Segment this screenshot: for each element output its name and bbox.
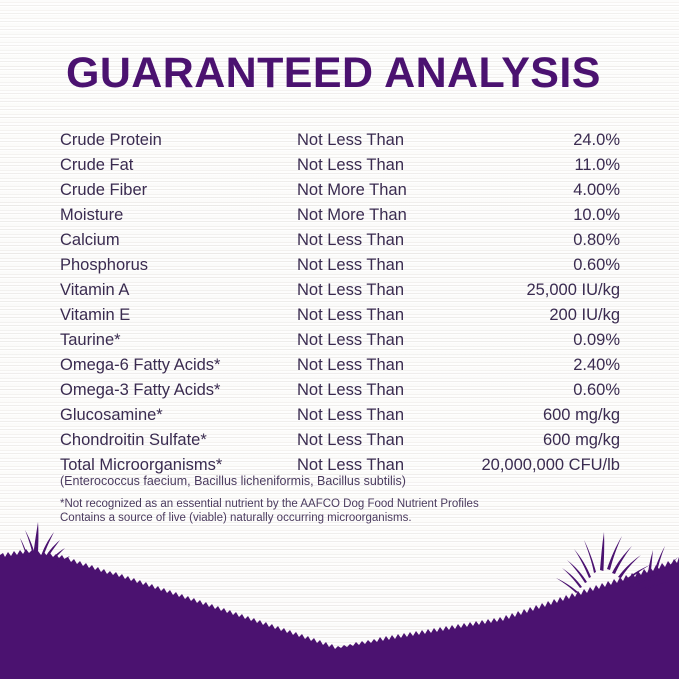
microorganism-strains-note: (Enterococcus faecium, Bacillus lichenif… (60, 474, 406, 488)
nutrient-label: Crude Fiber (60, 178, 147, 203)
amount-value: 4.00% (573, 178, 620, 203)
nutrient-label: Crude Fat (60, 153, 133, 178)
qualifier-label: Not Less Than (297, 428, 404, 453)
table-row: Chondroitin Sulfate* Not Less Than 600 m… (60, 428, 620, 453)
table-row: Glucosamine* Not Less Than 600 mg/kg (60, 403, 620, 428)
amount-value: 600 mg/kg (543, 428, 620, 453)
amount-value: 11.0% (574, 153, 620, 178)
qualifier-label: Not Less Than (297, 128, 404, 153)
table-row: Phosphorus Not Less Than 0.60% (60, 253, 620, 278)
amount-value: 600 mg/kg (543, 403, 620, 428)
amount-value: 200 IU/kg (549, 303, 620, 328)
table-row: Taurine* Not Less Than 0.09% (60, 328, 620, 353)
table-row: Omega-6 Fatty Acids* Not Less Than 2.40% (60, 353, 620, 378)
table-row: Omega-3 Fatty Acids* Not Less Than 0.60% (60, 378, 620, 403)
amount-value: 0.80% (573, 228, 620, 253)
qualifier-label: Not Less Than (297, 403, 404, 428)
nutrient-label: Phosphorus (60, 253, 148, 278)
amount-value: 2.40% (573, 353, 620, 378)
table-row: Crude Fiber Not More Than 4.00% (60, 178, 620, 203)
amount-value: 10.0% (573, 203, 620, 228)
amount-value: 20,000,000 CFU/lb (481, 453, 620, 478)
qualifier-label: Not Less Than (297, 378, 404, 403)
table-row: Vitamin A Not Less Than 25,000 IU/kg (60, 278, 620, 303)
qualifier-label: Not More Than (297, 203, 407, 228)
qualifier-label: Not Less Than (297, 328, 404, 353)
nutrient-label: Taurine* (60, 328, 121, 353)
amount-value: 24.0% (573, 128, 620, 153)
table-row: Moisture Not More Than 10.0% (60, 203, 620, 228)
qualifier-label: Not More Than (297, 178, 407, 203)
page-title: GUARANTEED ANALYSIS (66, 48, 601, 98)
qualifier-label: Not Less Than (297, 228, 404, 253)
nutrient-label: Moisture (60, 203, 123, 228)
table-row: Calcium Not Less Than 0.80% (60, 228, 620, 253)
nutrient-label: Vitamin E (60, 303, 130, 328)
nutrient-label: Omega-6 Fatty Acids* (60, 353, 220, 378)
qualifier-label: Not Less Than (297, 278, 404, 303)
nutrient-label: Calcium (60, 228, 120, 253)
grass-silhouette-icon (0, 509, 679, 679)
qualifier-label: Not Less Than (297, 303, 404, 328)
guaranteed-analysis-table: Crude Protein Not Less Than 24.0% Crude … (60, 128, 620, 478)
qualifier-label: Not Less Than (297, 353, 404, 378)
qualifier-label: Not Less Than (297, 253, 404, 278)
guaranteed-analysis-panel: GUARANTEED ANALYSIS Crude Protein Not Le… (0, 0, 679, 679)
amount-value: 25,000 IU/kg (526, 278, 620, 303)
nutrient-label: Crude Protein (60, 128, 162, 153)
nutrient-label: Glucosamine* (60, 403, 163, 428)
amount-value: 0.09% (573, 328, 620, 353)
amount-value: 0.60% (573, 378, 620, 403)
nutrient-label: Omega-3 Fatty Acids* (60, 378, 220, 403)
table-row: Vitamin E Not Less Than 200 IU/kg (60, 303, 620, 328)
nutrient-label: Chondroitin Sulfate* (60, 428, 207, 453)
table-row: Crude Protein Not Less Than 24.0% (60, 128, 620, 153)
nutrient-label: Vitamin A (60, 278, 129, 303)
table-row: Crude Fat Not Less Than 11.0% (60, 153, 620, 178)
qualifier-label: Not Less Than (297, 153, 404, 178)
amount-value: 0.60% (573, 253, 620, 278)
